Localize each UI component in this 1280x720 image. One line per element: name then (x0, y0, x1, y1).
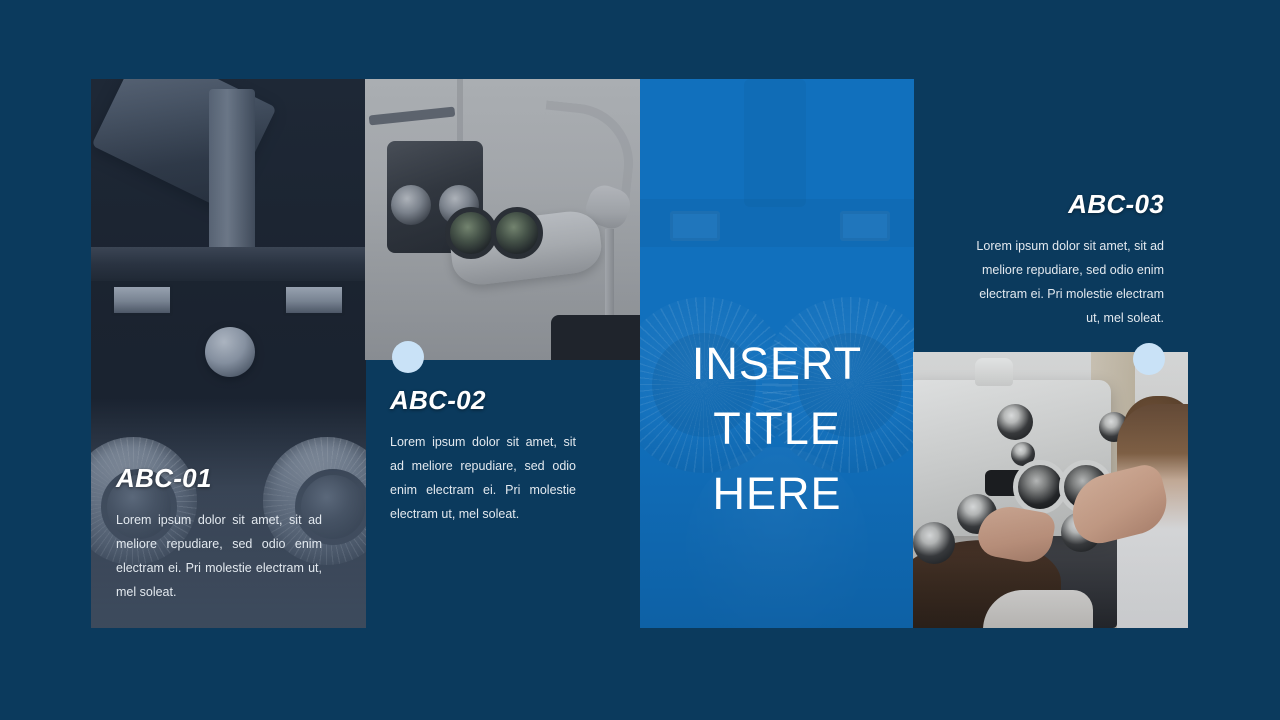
image-panel-two[interactable] (365, 79, 640, 360)
ghost-window-right (840, 211, 890, 241)
content-block-one: ABC-01 Lorem ipsum dolor sit amet, sit a… (116, 463, 322, 604)
image-panel-three[interactable] (913, 352, 1188, 628)
heading-abc-02: ABC-02 (390, 385, 576, 416)
ghost-window-left (670, 211, 720, 241)
ghost-arm-shape (744, 79, 806, 207)
body-text-abc-02: Lorem ipsum dolor sit amet, sit ad melio… (390, 430, 576, 526)
photo-blue-tint (365, 79, 640, 360)
content-block-two: ABC-02 Lorem ipsum dolor sit amet, sit a… (390, 385, 576, 526)
content-block-three: ABC-03 Lorem ipsum dolor sit amet, sit a… (974, 189, 1164, 330)
title-panel[interactable]: INSERT TITLE HERE (640, 79, 914, 628)
heading-abc-03: ABC-03 (974, 189, 1164, 220)
photo-blue-tint (913, 352, 1188, 628)
heading-abc-01: ABC-01 (116, 463, 322, 494)
accent-dot-two (392, 341, 424, 373)
patient-eye-exam-photo (913, 352, 1188, 628)
accent-dot-three (1133, 343, 1165, 375)
body-text-abc-01: Lorem ipsum dolor sit amet, sit ad melio… (116, 508, 322, 604)
presentation-slide: ABC-01 Lorem ipsum dolor sit amet, sit a… (0, 0, 1280, 720)
body-text-abc-03: Lorem ipsum dolor sit amet, sit ad melio… (974, 234, 1164, 330)
slide-title: INSERT TITLE HERE (640, 331, 914, 526)
slit-lamp-exam-room-photo (365, 79, 640, 360)
